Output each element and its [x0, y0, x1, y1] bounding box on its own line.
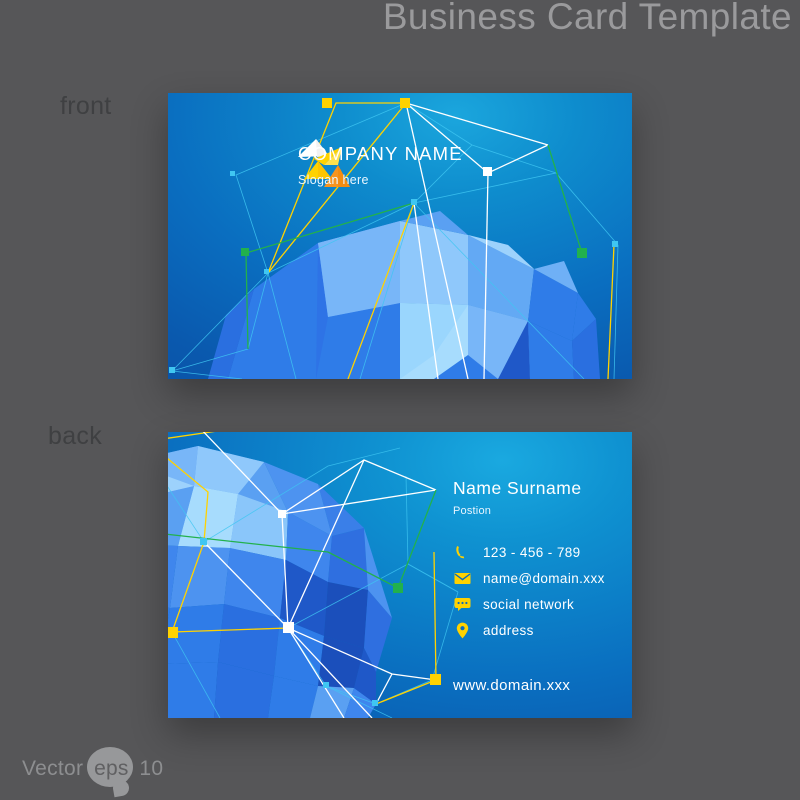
- person-name: Name Surname: [453, 478, 605, 499]
- business-card-front[interactable]: COMPANY NAME Slogan here: [168, 93, 632, 379]
- contact-row-social[interactable]: social network: [453, 591, 605, 617]
- card-front-artwork: [168, 93, 632, 379]
- envelope-icon: [453, 569, 471, 587]
- contact-row-phone[interactable]: 123 - 456 - 789: [453, 539, 605, 565]
- website-url[interactable]: www.domain.xxx: [453, 677, 605, 694]
- eps-badge: eps: [87, 747, 135, 791]
- page-title: Business Card Template: [0, 0, 800, 38]
- contact-value-email: name@domain.xxx: [483, 571, 605, 586]
- contact-row-address[interactable]: address: [453, 617, 605, 643]
- company-slogan: Slogan here: [298, 173, 463, 187]
- company-name: COMPANY NAME: [298, 145, 463, 164]
- location-pin-icon: [453, 621, 471, 639]
- label-back: back: [48, 422, 102, 451]
- contact-value-phone: 123 - 456 - 789: [483, 545, 581, 560]
- contact-value-social: social network: [483, 597, 574, 612]
- footer-prefix: Vector: [22, 757, 83, 781]
- contact-block: Name Surname Postion 123 - 456 - 789: [453, 478, 605, 694]
- contact-row-email[interactable]: name@domain.xxx: [453, 565, 605, 591]
- business-card-back[interactable]: Name Surname Postion 123 - 456 - 789: [168, 432, 632, 718]
- label-front: front: [60, 92, 112, 121]
- footer: Vector eps 10: [22, 748, 163, 790]
- contact-value-address: address: [483, 623, 534, 638]
- brand-block: COMPANY NAME Slogan here: [298, 145, 463, 187]
- person-position: Postion: [453, 505, 605, 517]
- chat-bubble-icon: [453, 595, 471, 613]
- phone-icon: [453, 543, 471, 561]
- eps-badge-label: eps: [94, 757, 128, 781]
- contact-list: 123 - 456 - 789 name@domain.xxx: [453, 539, 605, 643]
- footer-version: 10: [139, 757, 163, 781]
